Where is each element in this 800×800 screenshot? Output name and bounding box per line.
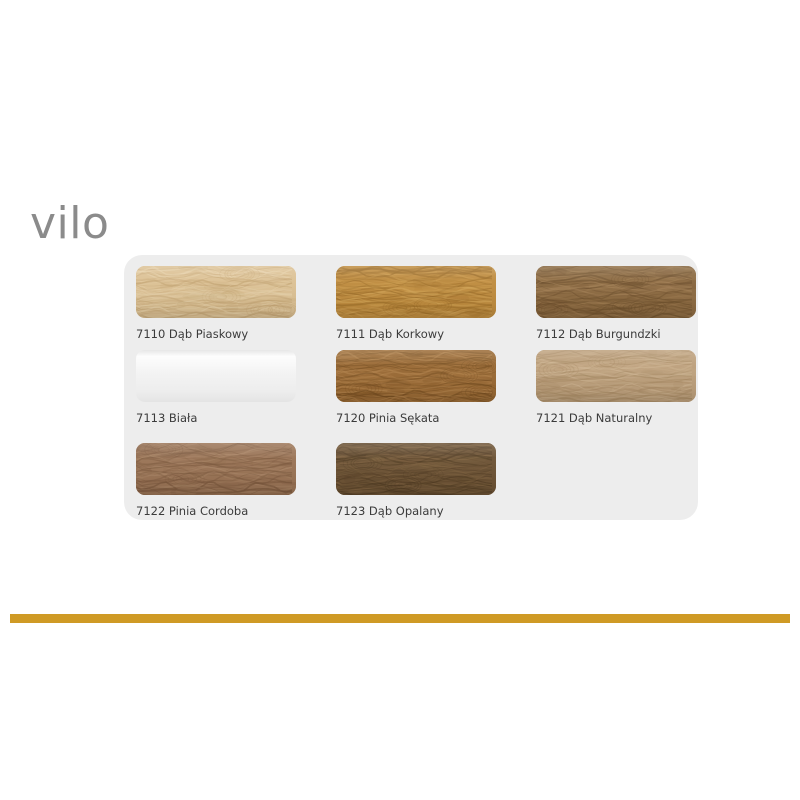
- swatch-label: 7112 Dąb Burgundzki: [536, 327, 696, 341]
- swatch-item[interactable]: 7110 Dąb Piaskowy: [136, 266, 296, 341]
- swatch-item[interactable]: 7122 Pinia Cordoba: [136, 443, 296, 518]
- swatch-item[interactable]: 7120 Pinia Sękata: [336, 350, 496, 425]
- swatch-label: 7121 Dąb Naturalny: [536, 411, 696, 425]
- swatch-color-chip[interactable]: [136, 266, 296, 318]
- brand-logo: vilo: [30, 196, 230, 252]
- swatch-color-chip[interactable]: [336, 350, 496, 402]
- swatch-label: 7120 Pinia Sękata: [336, 411, 496, 425]
- brand-logo-text: vilo: [30, 196, 230, 252]
- swatch-item[interactable]: 7123 Dąb Opalany: [336, 443, 496, 518]
- swatch-item[interactable]: 7121 Dąb Naturalny: [536, 350, 696, 425]
- swatch-color-chip[interactable]: [136, 443, 296, 495]
- swatch-label: 7113 Biała: [136, 411, 296, 425]
- swatch-color-chip[interactable]: [536, 350, 696, 402]
- swatch-label: 7122 Pinia Cordoba: [136, 504, 296, 518]
- swatch-color-chip[interactable]: [336, 443, 496, 495]
- swatch-item[interactable]: 7113 Biała: [136, 350, 296, 425]
- swatch-card: 7110 Dąb Piaskowy7111 Dąb Korkowy7112 Dą…: [124, 255, 698, 520]
- swatch-color-chip[interactable]: [536, 266, 696, 318]
- swatch-color-chip[interactable]: [136, 350, 296, 402]
- swatch-grid: 7110 Dąb Piaskowy7111 Dąb Korkowy7112 Dą…: [124, 255, 698, 520]
- accent-bar: [10, 614, 790, 623]
- swatch-label: 7111 Dąb Korkowy: [336, 327, 496, 341]
- swatch-item[interactable]: 7112 Dąb Burgundzki: [536, 266, 696, 341]
- swatch-color-chip[interactable]: [336, 266, 496, 318]
- swatch-label: 7123 Dąb Opalany: [336, 504, 496, 518]
- swatch-item[interactable]: 7111 Dąb Korkowy: [336, 266, 496, 341]
- swatch-label: 7110 Dąb Piaskowy: [136, 327, 296, 341]
